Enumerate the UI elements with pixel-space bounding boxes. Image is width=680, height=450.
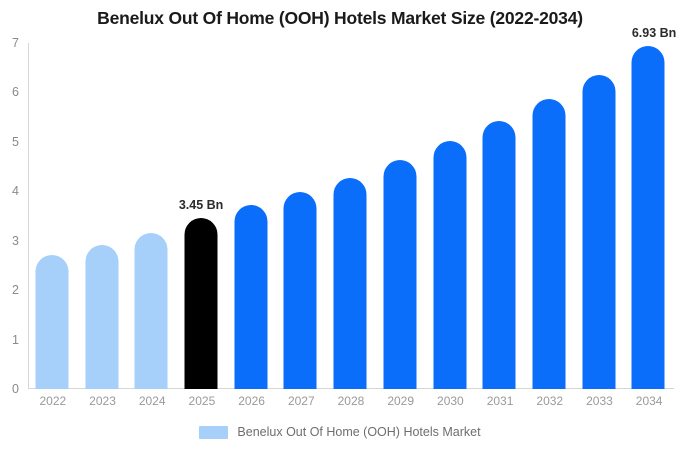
y-axis-tick-7: 7 — [12, 36, 19, 50]
y-axis-tick-4: 4 — [12, 184, 19, 198]
bar-2026[interactable] — [234, 205, 267, 389]
y-axis-tick-1: 1 — [12, 333, 19, 347]
y-axis-tick-2: 2 — [12, 283, 19, 297]
bar-2025[interactable] — [185, 218, 218, 389]
bar-2033[interactable] — [582, 75, 615, 389]
bar-2022[interactable] — [36, 255, 69, 389]
bar-slot-2026 — [227, 43, 275, 389]
bar-2028[interactable] — [334, 178, 367, 389]
bar-2032[interactable] — [532, 99, 565, 389]
bar-slot-2034: 6.93 Bn — [624, 43, 672, 389]
bar-slot-2028 — [326, 43, 374, 389]
bar-slot-2022 — [28, 43, 76, 389]
bar-slot-2032 — [525, 43, 573, 389]
x-axis-tick-labels: 2022202320242025202620272028202920302031… — [28, 394, 674, 414]
bar-2029[interactable] — [383, 160, 416, 389]
x-axis-tick-2024: 2024 — [127, 394, 177, 408]
bar-2024[interactable] — [135, 233, 168, 389]
bar-slot-2031 — [475, 43, 523, 389]
x-axis-tick-2031: 2031 — [475, 394, 525, 408]
bar-slot-2033 — [575, 43, 623, 389]
y-axis-tick-3: 3 — [12, 234, 19, 248]
bars-layer: 3.45 Bn6.93 Bn — [28, 43, 674, 389]
legend-swatch-icon — [199, 426, 228, 439]
legend-label: Benelux Out Of Home (OOH) Hotels Market — [237, 425, 480, 439]
y-axis-tick-0: 0 — [12, 382, 19, 396]
x-axis-tick-2032: 2032 — [525, 394, 575, 408]
y-axis-tick-5: 5 — [12, 135, 19, 149]
bar-slot-2024 — [127, 43, 175, 389]
x-axis-tick-2029: 2029 — [376, 394, 426, 408]
x-axis-tick-2027: 2027 — [276, 394, 326, 408]
bar-slot-2025: 3.45 Bn — [177, 43, 225, 389]
x-axis-tick-2033: 2033 — [575, 394, 625, 408]
bar-2031[interactable] — [483, 121, 516, 389]
bar-2034[interactable] — [632, 46, 665, 389]
bar-slot-2029 — [376, 43, 424, 389]
x-axis-tick-2030: 2030 — [426, 394, 476, 408]
y-axis-tick-6: 6 — [12, 85, 19, 99]
x-axis-tick-2034: 2034 — [624, 394, 674, 408]
x-axis-tick-2025: 2025 — [177, 394, 227, 408]
plot-area: 01234567 3.45 Bn6.93 Bn — [28, 43, 674, 389]
bar-2027[interactable] — [284, 192, 317, 389]
bar-2023[interactable] — [85, 245, 118, 389]
bar-slot-2030 — [426, 43, 474, 389]
bar-value-label-2025: 3.45 Bn — [179, 198, 223, 212]
bar-slot-2023 — [78, 43, 126, 389]
bar-2030[interactable] — [433, 141, 466, 389]
x-axis-tick-2022: 2022 — [28, 394, 78, 408]
x-axis-tick-2028: 2028 — [326, 394, 376, 408]
bar-chart: Benelux Out Of Home (OOH) Hotels Market … — [0, 0, 680, 450]
x-axis-tick-2023: 2023 — [78, 394, 128, 408]
x-axis-tick-2026: 2026 — [227, 394, 277, 408]
bar-slot-2027 — [276, 43, 324, 389]
chart-legend: Benelux Out Of Home (OOH) Hotels Market — [0, 425, 680, 439]
bar-value-label-2034: 6.93 Bn — [632, 26, 676, 40]
chart-title: Benelux Out Of Home (OOH) Hotels Market … — [0, 8, 680, 29]
